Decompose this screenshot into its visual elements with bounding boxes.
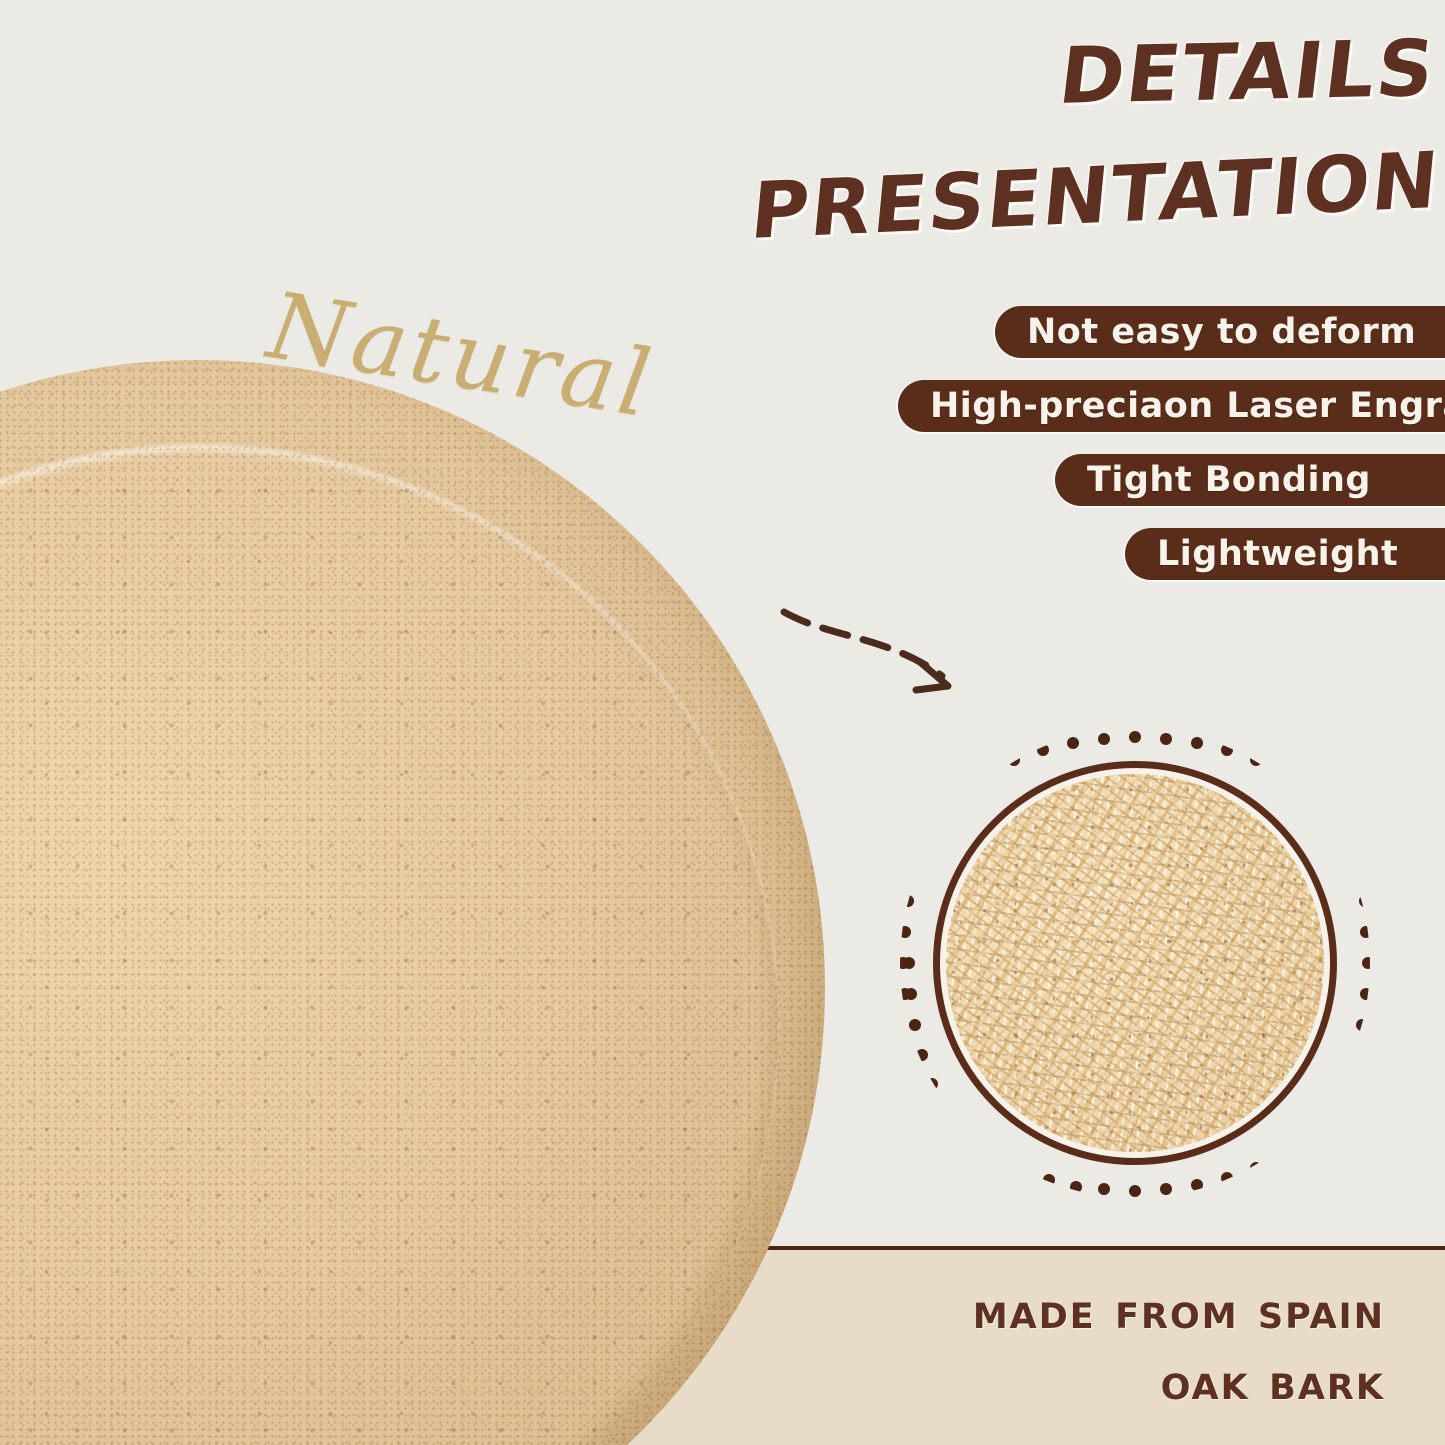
dashed-curved-arrow-icon: [770, 590, 1000, 710]
product-detail-image: Details Presentation Natural Not easy to…: [0, 0, 1445, 1445]
origin-banner-text: Made from Spain Oak Bark: [973, 1276, 1385, 1418]
feature-badge-lightweight[interactable]: Lightweight: [1125, 528, 1445, 580]
feature-badge-tight-bonding[interactable]: Tight Bonding: [1055, 454, 1445, 506]
feature-badge-label: High-preciaon Laser Engraving: [898, 386, 1445, 426]
feature-badge-laser-engraving[interactable]: High-preciaon Laser Engraving: [898, 380, 1445, 432]
feature-badge-label: Tight Bonding: [1055, 460, 1371, 500]
origin-line-1: Made from Spain: [973, 1276, 1385, 1347]
title-line-2: Presentation: [748, 116, 1445, 254]
page-title: Details Presentation: [756, 4, 1437, 223]
oak-bark-shavings-texture: [946, 774, 1324, 1152]
origin-banner: Made from Spain Oak Bark: [0, 1246, 1445, 1445]
feature-badge-label: Not easy to deform: [995, 312, 1416, 352]
material-closeup-inset: [900, 728, 1370, 1198]
shavings-layer-2: [946, 774, 1324, 1152]
feature-badge-not-easy-to-deform[interactable]: Not easy to deform: [995, 306, 1445, 358]
origin-line-2: Oak Bark: [973, 1347, 1385, 1418]
feature-badge-label: Lightweight: [1125, 534, 1398, 574]
feature-badge-list: Not easy to deform High-preciaon Laser E…: [0, 306, 1445, 602]
title-line-1: Details: [748, 4, 1443, 126]
